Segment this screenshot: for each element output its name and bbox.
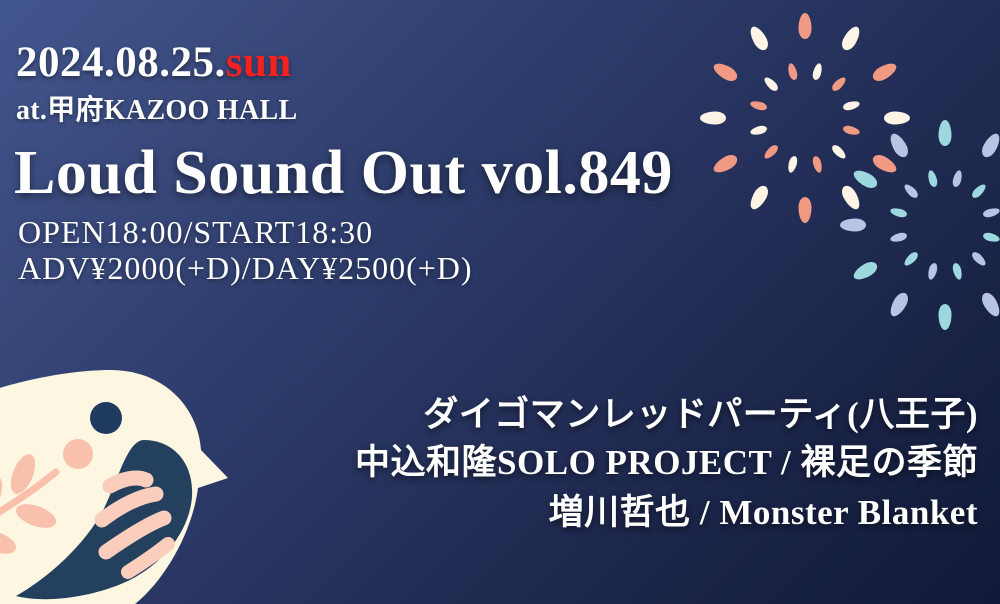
lineup-line-3: 増川哲也 / Monster Blanket xyxy=(278,488,978,538)
event-date-value: 2024.08.25. xyxy=(16,39,226,86)
event-venue: at.甲府KAZOO HALL xyxy=(16,88,297,128)
bird-illustration xyxy=(0,356,300,604)
event-weekday: sun xyxy=(226,39,292,86)
page-title: Loud Sound Out vol.849 xyxy=(14,138,673,209)
venue-city: 甲府 xyxy=(47,93,104,126)
bird-body xyxy=(0,370,228,604)
event-time: OPEN18:00/START18:30 xyxy=(18,214,373,251)
artist-lineup: ダイゴマンレッドパーティ(八王子) 中込和隆SOLO PROJECT / 裸足の… xyxy=(278,392,978,538)
bird-wing xyxy=(16,440,192,599)
venue-prefix: at. xyxy=(16,95,47,126)
lineup-line-2: 中込和隆SOLO PROJECT / 裸足の季節 xyxy=(278,438,978,488)
lineup-line-1: ダイゴマンレッドパーティ(八王子) xyxy=(278,392,978,438)
bird-eye xyxy=(90,402,122,434)
bird-branch-decor xyxy=(0,439,93,583)
venue-name: KAZOO HALL xyxy=(104,95,298,126)
event-date: 2024.08.25.sun xyxy=(16,38,292,87)
event-price: ADV¥2000(+D)/DAY¥2500(+D) xyxy=(18,250,473,287)
event-poster: 2024.08.25.sun at.甲府KAZOO HALL Loud Soun… xyxy=(0,0,1000,604)
